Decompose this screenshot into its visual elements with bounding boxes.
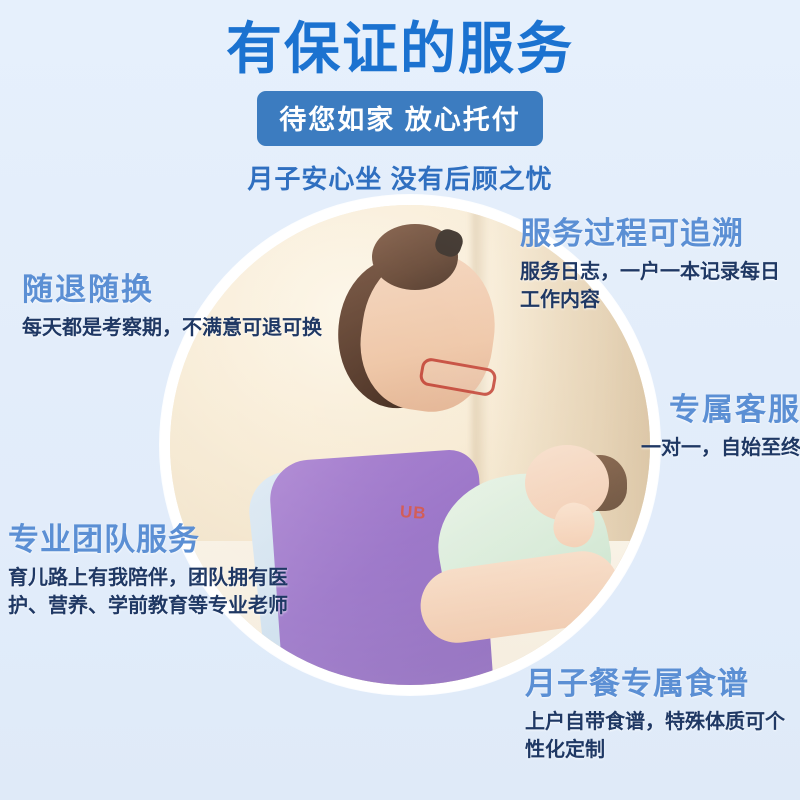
poster-header: 有保证的服务 待您如家 放心托付 月子安心坐 没有后顾之忧 — [0, 0, 800, 196]
feature-dedicated-support: 专属客服 一对一，自始至终 — [596, 392, 800, 462]
feature-professional-team: 专业团队服务 育儿路上有我陪伴，团队拥有医护、营养、学前教育等专业老师 — [8, 522, 308, 620]
feature-swap-anytime: 随退随换 每天都是考察期，不满意可退可换 — [22, 272, 322, 342]
uniform-logo: UB — [400, 502, 428, 524]
caregiver-hair-bun — [372, 224, 458, 290]
promo-poster: 有保证的服务 待您如家 放心托付 月子安心坐 没有后顾之忧 UB — [0, 0, 800, 800]
feature-body: 上户自带食谱，特殊体质可个性化定制 — [525, 708, 800, 765]
feature-postpartum-menu: 月子餐专属食谱 上户自带食谱，特殊体质可个性化定制 — [525, 666, 800, 764]
slogan-badge-wrap: 待您如家 放心托付 — [0, 91, 800, 146]
feature-body: 服务日志，一户一本记录每日工作内容 — [520, 258, 795, 315]
feature-heading: 专属客服 — [596, 392, 800, 428]
feature-body: 育儿路上有我陪伴，团队拥有医护、营养、学前教育等专业老师 — [8, 564, 308, 621]
sub-slogan: 月子安心坐 没有后顾之忧 — [0, 159, 800, 196]
feature-body: 每天都是考察期，不满意可退可换 — [22, 314, 322, 342]
feature-traceable-service: 服务过程可追溯 服务日志，一户一本记录每日工作内容 — [520, 216, 795, 314]
feature-heading: 月子餐专属食谱 — [525, 666, 800, 702]
feature-heading: 专业团队服务 — [8, 522, 308, 558]
page-title: 有保证的服务 — [0, 0, 800, 81]
feature-heading: 随退随换 — [22, 272, 322, 308]
feature-body: 一对一，自始至终 — [596, 434, 800, 462]
slogan-badge: 待您如家 放心托付 — [257, 91, 543, 146]
feature-heading: 服务过程可追溯 — [520, 216, 795, 252]
